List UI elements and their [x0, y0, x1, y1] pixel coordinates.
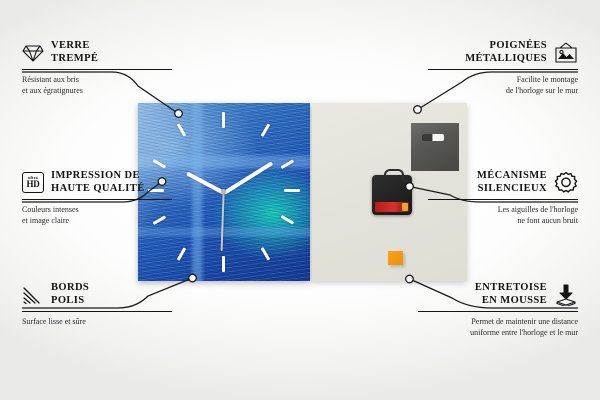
- hour-tick: [222, 256, 225, 272]
- metal-hanger-plate: [411, 123, 459, 171]
- feature-header: POIGNÉES MÉTALLIQUES: [428, 40, 578, 65]
- hour-tick: [261, 247, 270, 260]
- feature-title: VERRE TREMPÉ: [51, 40, 98, 65]
- hour-tick: [284, 189, 300, 192]
- feature-subtitle: Couleurs intenses et image claire: [22, 205, 172, 226]
- hanger-slot: [422, 134, 444, 141]
- feature-bords-polis: BORDS POLIS Surface lisse et sûre: [22, 282, 172, 328]
- second-hand: [221, 193, 225, 251]
- hour-tick: [222, 112, 225, 128]
- product-photo: [138, 103, 467, 281]
- minute-hand: [223, 161, 273, 194]
- battery-plus-terminal: [402, 203, 408, 211]
- feature-mecanisme-silencieux: MÉCANISME SILENCIEUX Les aiguilles de l'…: [428, 170, 578, 226]
- gear-icon: [554, 171, 578, 194]
- feature-subtitle: Facilite le montage de l'horloge sur le …: [428, 75, 578, 96]
- hour-tick: [281, 159, 294, 168]
- hour-hand: [186, 172, 225, 195]
- diamond-icon: [22, 43, 44, 63]
- feature-header: ultra HD IMPRESSION DE HAUTE QUALITÉ: [22, 170, 172, 195]
- hour-tick: [177, 123, 186, 136]
- clock-mechanism: [372, 175, 412, 215]
- hour-tick: [177, 247, 186, 260]
- foam-spacer-arrow-icon: [554, 284, 578, 306]
- clock-center-pin: [221, 189, 226, 194]
- feature-header: ENTRETOISE EN MOUSSE: [418, 282, 578, 307]
- hour-tick: [281, 215, 294, 224]
- picture-hanger-icon: [554, 42, 578, 64]
- feature-subtitle: Les aiguilles de l'horloge ne font aucun…: [428, 205, 578, 226]
- feature-title: MÉCANISME SILENCIEUX: [477, 170, 547, 195]
- battery: [375, 202, 409, 212]
- feature-title: BORDS POLIS: [51, 282, 89, 307]
- ultra-hd-badge-icon: ultra HD: [22, 172, 44, 193]
- foam-spacer: [388, 251, 403, 265]
- feature-subtitle: Résistant aux bris et aux égratignures: [22, 75, 172, 96]
- feature-verre-trempe: VERRE TREMPÉ Résistant aux bris et aux é…: [22, 40, 172, 96]
- feature-header: BORDS POLIS: [22, 282, 172, 307]
- feature-subtitle: Permet de maintenir une distance uniform…: [418, 317, 578, 338]
- feature-title: POIGNÉES MÉTALLIQUES: [465, 40, 547, 65]
- feature-title: ENTRETOISE EN MOUSSE: [475, 282, 547, 307]
- hour-tick: [153, 159, 166, 168]
- feature-subtitle: Surface lisse et sûre: [22, 317, 172, 328]
- feature-poignees-metalliques: POIGNÉES MÉTALLIQUES Facilite le montage…: [428, 40, 578, 96]
- feature-impression-haute-qualite: ultra HD IMPRESSION DE HAUTE QUALITÉ Cou…: [22, 170, 172, 226]
- feature-rule: [22, 199, 172, 200]
- feature-title: IMPRESSION DE HAUTE QUALITÉ: [51, 170, 145, 195]
- feature-rule: [418, 311, 578, 312]
- feature-header: MÉCANISME SILENCIEUX: [428, 170, 578, 195]
- feature-entretoise-en-mousse: ENTRETOISE EN MOUSSE Permet de maintenir…: [418, 282, 578, 338]
- feature-rule: [22, 69, 172, 70]
- feature-rule: [428, 199, 578, 200]
- infographic-canvas: VERRE TREMPÉ Résistant aux bris et aux é…: [0, 0, 600, 400]
- mechanism-hanger-loop: [384, 169, 404, 181]
- hour-tick: [261, 123, 270, 136]
- ultra-hd-badge-bottom-text: HD: [26, 180, 39, 189]
- polished-edges-icon: [22, 285, 44, 305]
- feature-rule: [428, 69, 578, 70]
- feature-header: VERRE TREMPÉ: [22, 40, 172, 65]
- feature-rule: [22, 311, 172, 312]
